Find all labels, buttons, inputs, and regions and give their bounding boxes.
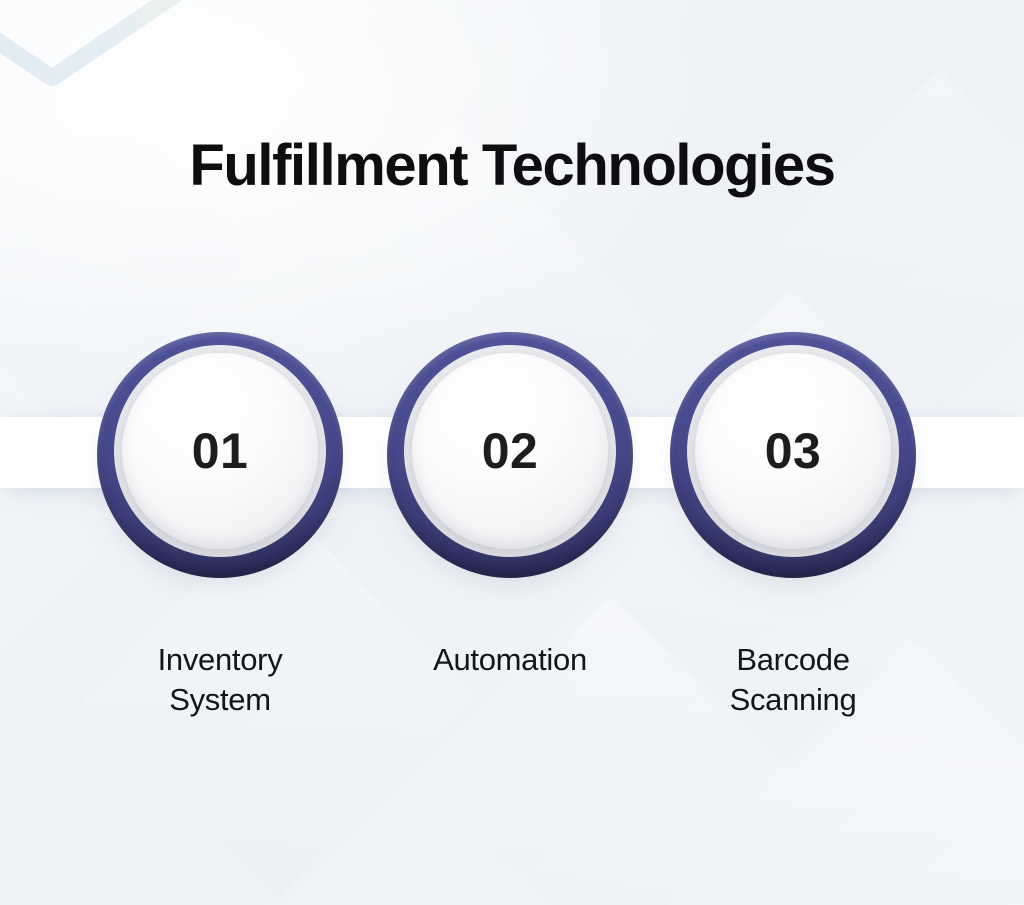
steps-row: 01 Inventory System 02 Automation bbox=[0, 332, 1024, 752]
page-title: Fulfillment Technologies bbox=[0, 136, 1024, 197]
step-item-02[interactable]: 02 Automation bbox=[365, 332, 655, 680]
step-label: Inventory System bbox=[75, 640, 365, 719]
hexagon-outline-icon bbox=[0, 0, 262, 150]
step-label: Automation bbox=[365, 640, 655, 680]
step-badge[interactable]: 02 bbox=[387, 332, 633, 578]
badge-inner-disc: 03 bbox=[695, 353, 891, 549]
step-item-03[interactable]: 03 Barcode Scanning bbox=[648, 332, 938, 719]
step-label: Barcode Scanning bbox=[648, 640, 938, 719]
badge-inner-disc: 01 bbox=[122, 353, 318, 549]
step-badge[interactable]: 01 bbox=[97, 332, 343, 578]
step-badge[interactable]: 03 bbox=[670, 332, 916, 578]
step-item-01[interactable]: 01 Inventory System bbox=[75, 332, 365, 719]
badge-inner-disc: 02 bbox=[412, 353, 608, 549]
step-number: 01 bbox=[192, 426, 249, 476]
step-number: 03 bbox=[765, 426, 822, 476]
step-number: 02 bbox=[482, 426, 539, 476]
infographic-canvas: Fulfillment Technologies 01 Inventory Sy… bbox=[0, 0, 1024, 905]
